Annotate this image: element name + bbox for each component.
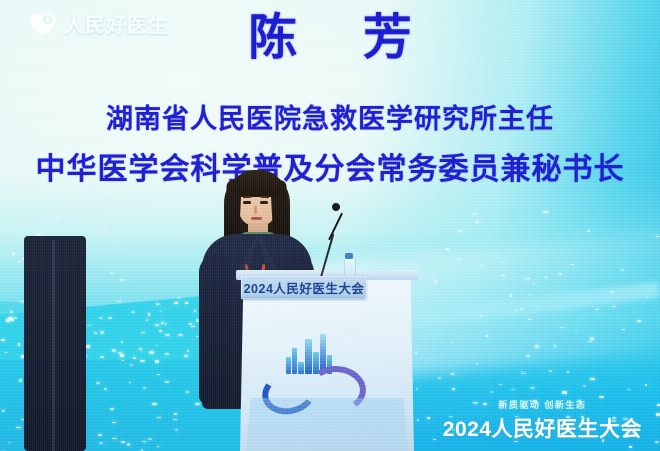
brand-logo: 人民好医生 xyxy=(27,9,169,38)
watermark-tagline: 新质驱动 创新生态 xyxy=(443,398,642,411)
slide-title-line-1: 湖南省人民医院急救医学研究所主任 xyxy=(0,106,660,133)
watermark-event-name: 2024人民好医生大会 xyxy=(443,413,642,443)
speaker-eye-left xyxy=(243,201,251,204)
event-watermark: 新质驱动 创新生态 2024人民好医生大会 xyxy=(443,398,642,443)
lectern-lower-panel xyxy=(246,398,408,451)
speaker-trouser-crease xyxy=(52,240,55,451)
heart-medical-pin-icon xyxy=(27,10,59,38)
conference-stage-screenshot: 陈 芳 湖南省人民医院急救医学研究所主任 中华医学会科学普及分会常务委员兼秘书长… xyxy=(0,0,660,451)
speaker-mouth xyxy=(251,217,262,220)
speaker-arm-left xyxy=(199,254,231,404)
brand-logo-text: 人民好医生 xyxy=(64,9,169,38)
speaker-eye-right xyxy=(260,201,268,204)
speaker-trousers xyxy=(24,236,86,451)
speaker-nose xyxy=(254,206,257,214)
lectern-name-plate-text: 2024人民好医生大会 xyxy=(244,278,365,297)
lectern-name-plate: 2024人民好医生大会 xyxy=(241,276,367,299)
microphone-head-icon xyxy=(332,203,340,211)
water-bottle-cap xyxy=(345,253,353,259)
speaker-hair-front xyxy=(234,170,281,197)
slide-title-line-2: 中华医学会科学普及分会常务委员兼秘书长 xyxy=(0,155,660,185)
city-skyline-infinity-ribbon-emblem xyxy=(258,332,358,406)
lectern-name-plate-shadow xyxy=(241,297,365,301)
